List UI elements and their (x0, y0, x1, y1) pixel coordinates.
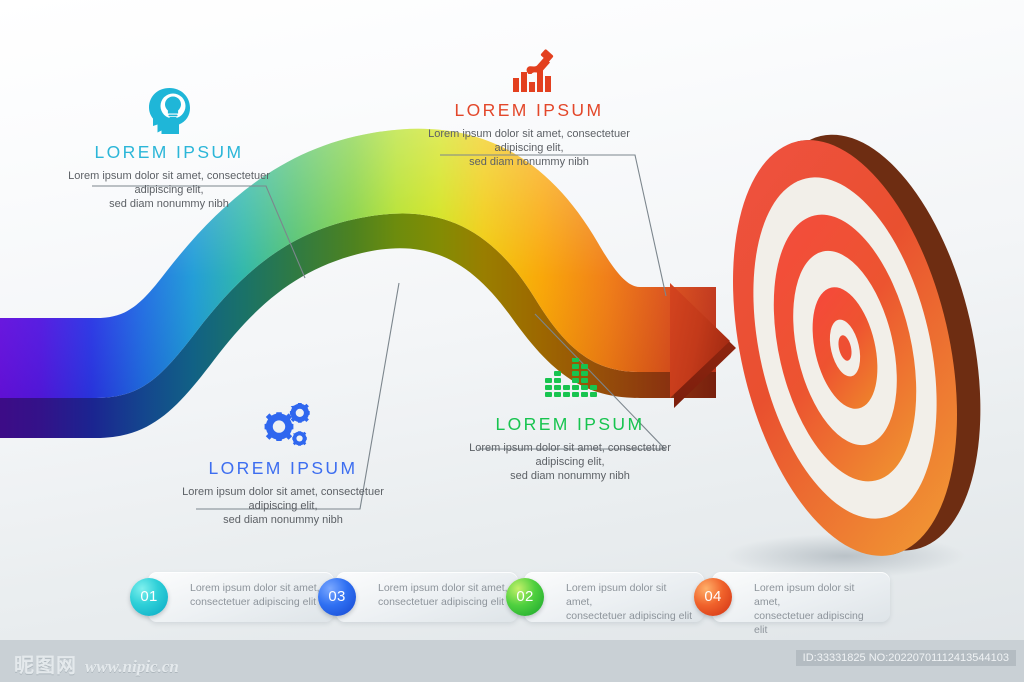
infographic-canvas: LOREM IPSUM Lorem ipsum dolor sit amet, … (0, 0, 1024, 682)
callout-title: LOREM IPSUM (46, 142, 292, 163)
target-dartboard (696, 113, 1017, 578)
legend-number-badge: 03 (318, 578, 356, 616)
callout-desc: Lorem ipsum dolor sit amet, consectetuer… (458, 441, 682, 483)
equalizer-bars-icon (458, 358, 682, 410)
hand-bar-chart-icon (414, 44, 644, 96)
callout-block-3: LOREM IPSUM Lorem ipsum dolor sit amet, … (174, 402, 392, 527)
callout-desc: Lorem ipsum dolor sit amet, consectetuer… (174, 485, 392, 527)
callout-block-4: LOREM IPSUM Lorem ipsum dolor sit amet, … (458, 358, 682, 483)
legend-text: Lorem ipsum dolor sit amet, consectetuer… (378, 581, 508, 609)
callout-desc: Lorem ipsum dolor sit amet, consectetuer… (46, 169, 292, 211)
legend-number-badge: 01 (130, 578, 168, 616)
legend-card[interactable]: 04 Lorem ipsum dolor sit amet, consectet… (712, 572, 890, 622)
gears-icon (174, 402, 392, 454)
callout-block-2: LOREM IPSUM Lorem ipsum dolor sit amet, … (414, 44, 644, 169)
legend-card[interactable]: 02 Lorem ipsum dolor sit amet, consectet… (524, 572, 704, 622)
legend-card[interactable]: 01 Lorem ipsum dolor sit amet, consectet… (148, 572, 334, 622)
watermark-footer: 昵图网 www.nipic.cn ID:33331825 NO:20220701… (0, 640, 1024, 682)
watermark-chinese-text: 昵图网 (14, 649, 77, 678)
callout-title: LOREM IPSUM (458, 414, 682, 435)
legend-text: Lorem ipsum dolor sit amet, consectetuer… (754, 581, 880, 637)
legend-text: Lorem ipsum dolor sit amet, consectetuer… (190, 581, 324, 609)
legend-row: 01 Lorem ipsum dolor sit amet, consectet… (0, 572, 1024, 640)
artwork-layer: LOREM IPSUM Lorem ipsum dolor sit amet, … (0, 0, 1024, 640)
callout-desc: Lorem ipsum dolor sit amet, consectetuer… (414, 127, 644, 169)
legend-text: Lorem ipsum dolor sit amet, consectetuer… (566, 581, 694, 623)
head-lightbulb-icon (46, 86, 292, 138)
legend-number-badge: 04 (694, 578, 732, 616)
site-watermark-logo: 昵图网 www.nipic.cn (14, 649, 179, 678)
callout-title: LOREM IPSUM (174, 458, 392, 479)
legend-number-badge: 02 (506, 578, 544, 616)
image-id-badge: ID:33331825 NO:20220701112413544103 (796, 650, 1016, 666)
legend-card[interactable]: 03 Lorem ipsum dolor sit amet, consectet… (336, 572, 518, 622)
callout-block-1: LOREM IPSUM Lorem ipsum dolor sit amet, … (46, 86, 292, 211)
watermark-url: www.nipic.cn (85, 657, 179, 677)
callout-title: LOREM IPSUM (414, 100, 644, 121)
